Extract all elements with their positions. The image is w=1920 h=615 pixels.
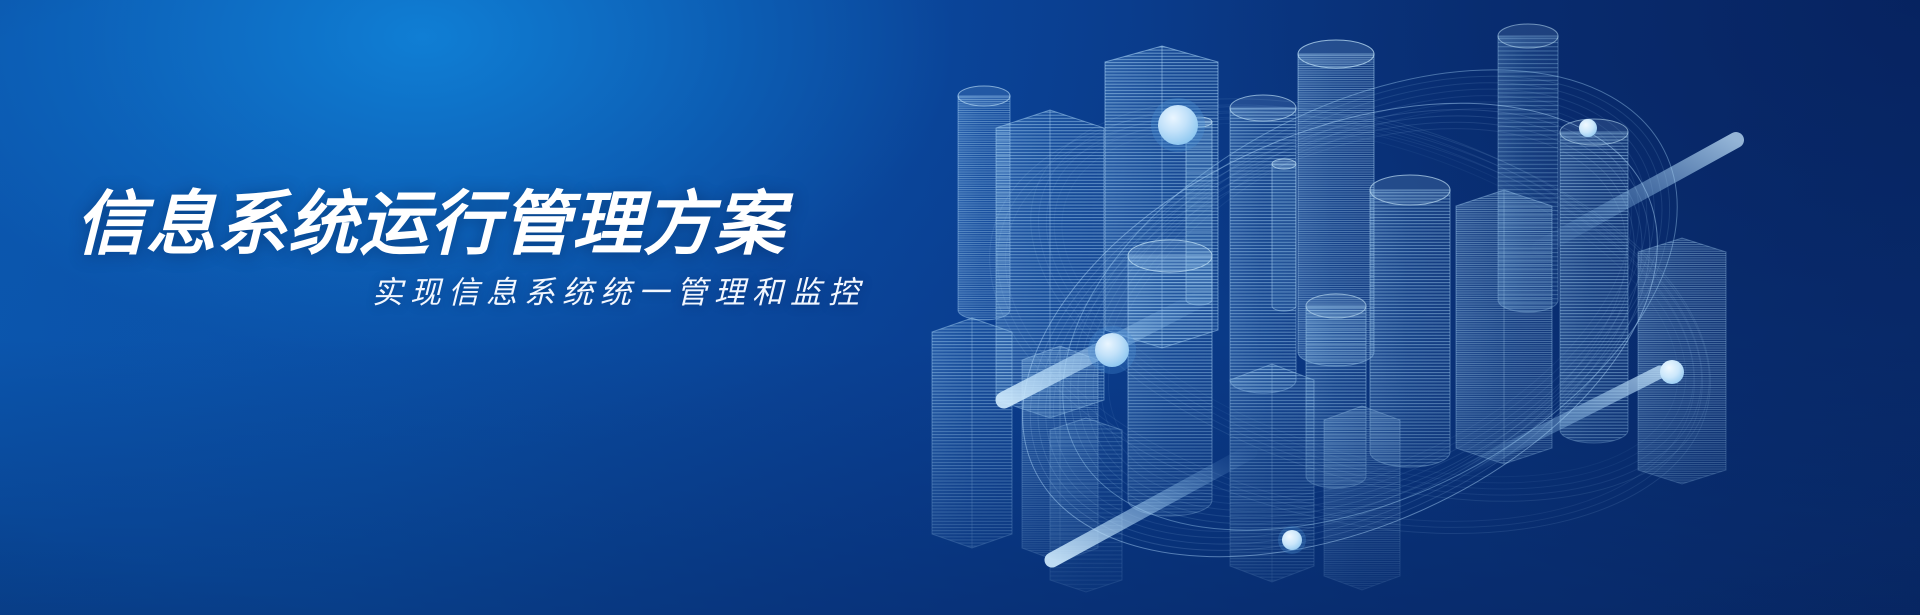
isometric-city-illustration [900, 0, 1920, 615]
orb-small-mid-right [1660, 360, 1684, 384]
tower-edge-right-3 [1498, 24, 1558, 312]
tower-edge-right-2 [1638, 238, 1726, 484]
orb-small-bottom [1278, 526, 1306, 554]
tower-pipe-b [1272, 159, 1296, 311]
city-wireframe-svg [900, 0, 1920, 615]
orb-large-left [1088, 326, 1136, 374]
banner-subtitle: 实现信息系统统一管理和监控 [372, 274, 866, 311]
banner-text-block: 信息系统运行管理方案 实现信息系统统一管理和监控 [0, 0, 1000, 615]
orb-large-top [1151, 98, 1205, 152]
hero-banner: 信息系统运行管理方案 实现信息系统统一管理和监控 [0, 0, 1920, 615]
wireframe-towers [932, 24, 1726, 592]
banner-title: 信息系统运行管理方案 [75, 188, 785, 262]
orb-small-right [1579, 119, 1597, 137]
